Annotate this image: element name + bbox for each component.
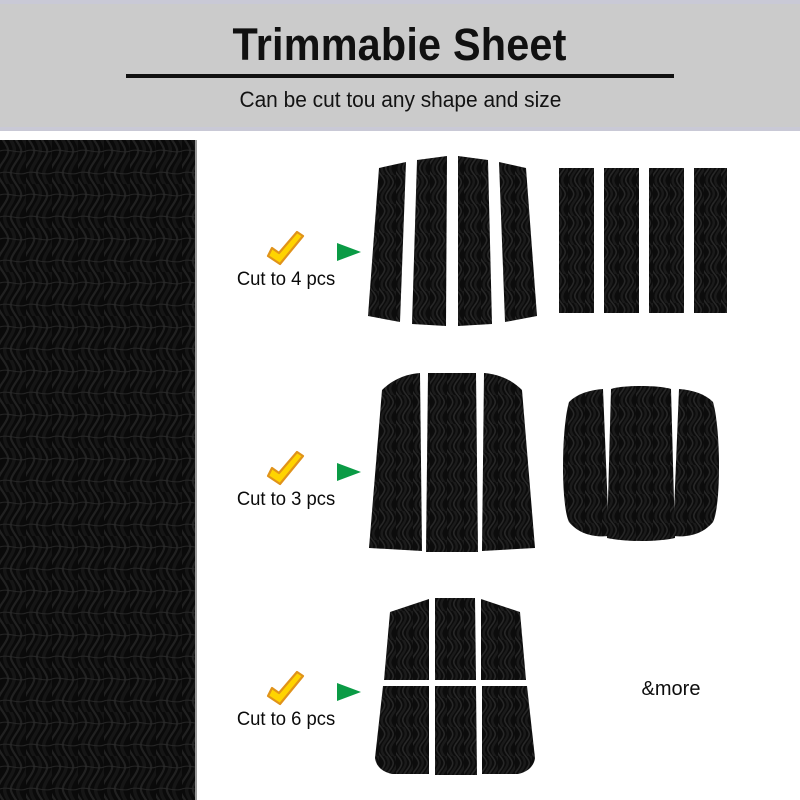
pad-piece (604, 168, 639, 313)
more-options-label: &more (591, 677, 751, 701)
pad-piece (481, 599, 526, 680)
yellow-check-icon (268, 232, 303, 264)
page-title: Trimmabie Sheet (233, 4, 567, 70)
pad-piece (649, 168, 684, 313)
cut-option-row: Cut to 3 pcs (199, 360, 800, 580)
cut-options-column: Cut to 4 pcs (199, 140, 800, 800)
uncut-traction-sheet (0, 140, 197, 800)
pad-piece (694, 168, 727, 313)
pad-piece (426, 373, 478, 552)
cut-instruction-6: Cut to 6 pcs (211, 670, 361, 732)
cut-label: Cut to 4 pcs (213, 266, 359, 292)
pad-piece (435, 598, 476, 680)
pad-piece (458, 156, 492, 326)
cut-instruction-3: Cut to 3 pcs (211, 450, 361, 512)
yellow-check-icon (268, 452, 303, 484)
product-infographic: Trimmabie Sheet Can be cut tou any shape… (0, 0, 800, 800)
pad-piece (607, 386, 675, 541)
page-subtitle: Can be cut tou any shape and size (239, 78, 561, 113)
pad-piece (368, 162, 406, 322)
pad-piece (673, 389, 719, 536)
pad-piece (375, 686, 429, 774)
cut-label: Cut to 6 pcs (213, 706, 359, 732)
pad-piece (482, 686, 535, 774)
four-piece-fanned-strips (362, 146, 542, 346)
sheet-texture (0, 140, 195, 800)
pad-piece (559, 168, 594, 313)
pad-piece (499, 162, 537, 322)
yellow-check-icon (268, 672, 303, 704)
pad-piece (412, 156, 447, 326)
three-piece-fanned-strips (362, 366, 542, 566)
pad-piece (384, 599, 429, 680)
header-inner: Trimmabie Sheet Can be cut tou any shape… (0, 4, 800, 127)
cut-option-row: Cut to 4 pcs (199, 140, 800, 360)
header-band: Trimmabie Sheet Can be cut tou any shape… (0, 0, 800, 131)
pad-piece (369, 373, 422, 551)
green-arrow-right-icon (211, 450, 361, 486)
six-piece-grid-pad (362, 582, 542, 782)
cut-label: Cut to 3 pcs (213, 486, 359, 512)
green-arrow-right-icon (211, 230, 361, 266)
pad-piece (435, 686, 477, 775)
three-piece-tail-pad (551, 378, 731, 558)
green-arrow-right-icon (211, 670, 361, 706)
pad-piece (482, 373, 535, 551)
pad-piece (563, 389, 609, 536)
four-piece-straight-strips (551, 158, 731, 338)
cut-instruction-4: Cut to 4 pcs (211, 230, 361, 292)
cut-option-row: Cut to 6 pcs &more (199, 580, 800, 800)
